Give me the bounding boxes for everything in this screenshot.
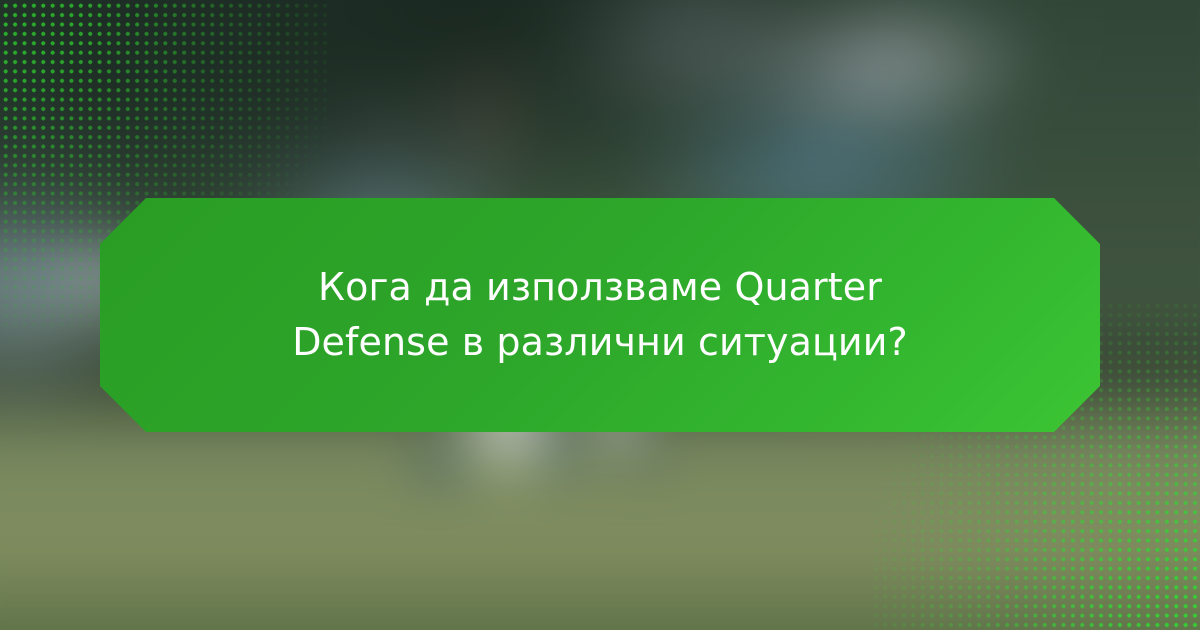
page-title: Кога да използваме Quarter Defense в раз… (250, 260, 950, 370)
social-card: Кога да използваме Quarter Defense в раз… (0, 0, 1200, 630)
title-banner: Кога да използваме Quarter Defense в раз… (100, 198, 1100, 432)
